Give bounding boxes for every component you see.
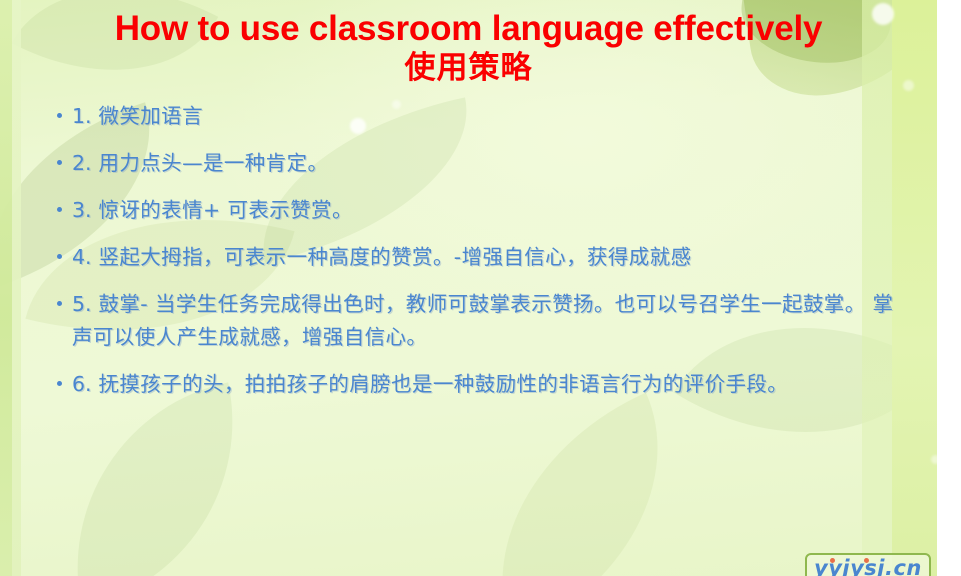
list-item-number: 4. [72,245,92,269]
slide-title-english: How to use classroom language effectivel… [0,8,937,49]
bullet-dot-icon [57,113,62,118]
bubble-highlight-5 [931,455,940,464]
list-item: 4. 竖起大拇指，可表示一种高度的赞赏。-增强自信心，获得成就感 [52,241,910,274]
bullet-dot-icon [57,254,62,259]
list-item: 1. 微笑加语言 [52,100,897,133]
right-white-margin [937,0,961,576]
bullet-dot-icon [57,381,62,386]
list-item: 5. 鼓掌- 当学生任务完成得出色时，教师可鼓掌表示赞扬。也可以号召学生一起鼓掌… [52,288,910,354]
list-item-text: 竖起大拇指，可表示一种高度的赞赏。-增强自信心，获得成就感 [98,245,691,269]
list-item-text: 鼓掌- 当学生任务完成得出色时，教师可鼓掌表示赞扬。也可以号召学生一起鼓掌。 掌… [72,292,893,349]
list-item-text: 惊讶的表情+ 可表示赞赏。 [98,198,352,222]
list-item-text: 微笑加语言 [98,104,203,128]
bullet-dot-icon [57,301,62,306]
list-item-text: 用力点头—是一种肯定。 [98,151,328,175]
list-item: 6. 抚摸孩子的头，拍拍孩子的肩膀也是一种鼓励性的非语言行为的评价手段。 [52,368,910,401]
title-block: How to use classroom language effectivel… [0,8,937,87]
list-item: 3. 惊讶的表情+ 可表示赞赏。 [52,194,897,227]
list-item-number: 1. [72,104,92,128]
bullet-dot-icon [57,160,62,165]
list-item-number: 6. [72,372,92,396]
list-item-number: 5. [72,292,92,316]
list-item-number: 2. [72,151,92,175]
bullet-dot-icon [57,207,62,212]
slide-title-chinese: 使用策略 [0,49,937,87]
watermark-text: yyjysj.cn [814,556,922,576]
slide-canvas: How to use classroom language effectivel… [0,0,961,576]
bullet-list: 1. 微笑加语言 2. 用力点头—是一种肯定。 3. 惊讶的表情+ 可表示赞赏。… [52,100,897,415]
list-item-text: 抚摸孩子的头，拍拍孩子的肩膀也是一种鼓励性的非语言行为的评价手段。 [98,372,788,396]
list-item: 2. 用力点头—是一种肯定。 [52,147,897,180]
watermark-logo[interactable]: yyjysj.cn [805,553,931,576]
list-item-number: 3. [72,198,92,222]
